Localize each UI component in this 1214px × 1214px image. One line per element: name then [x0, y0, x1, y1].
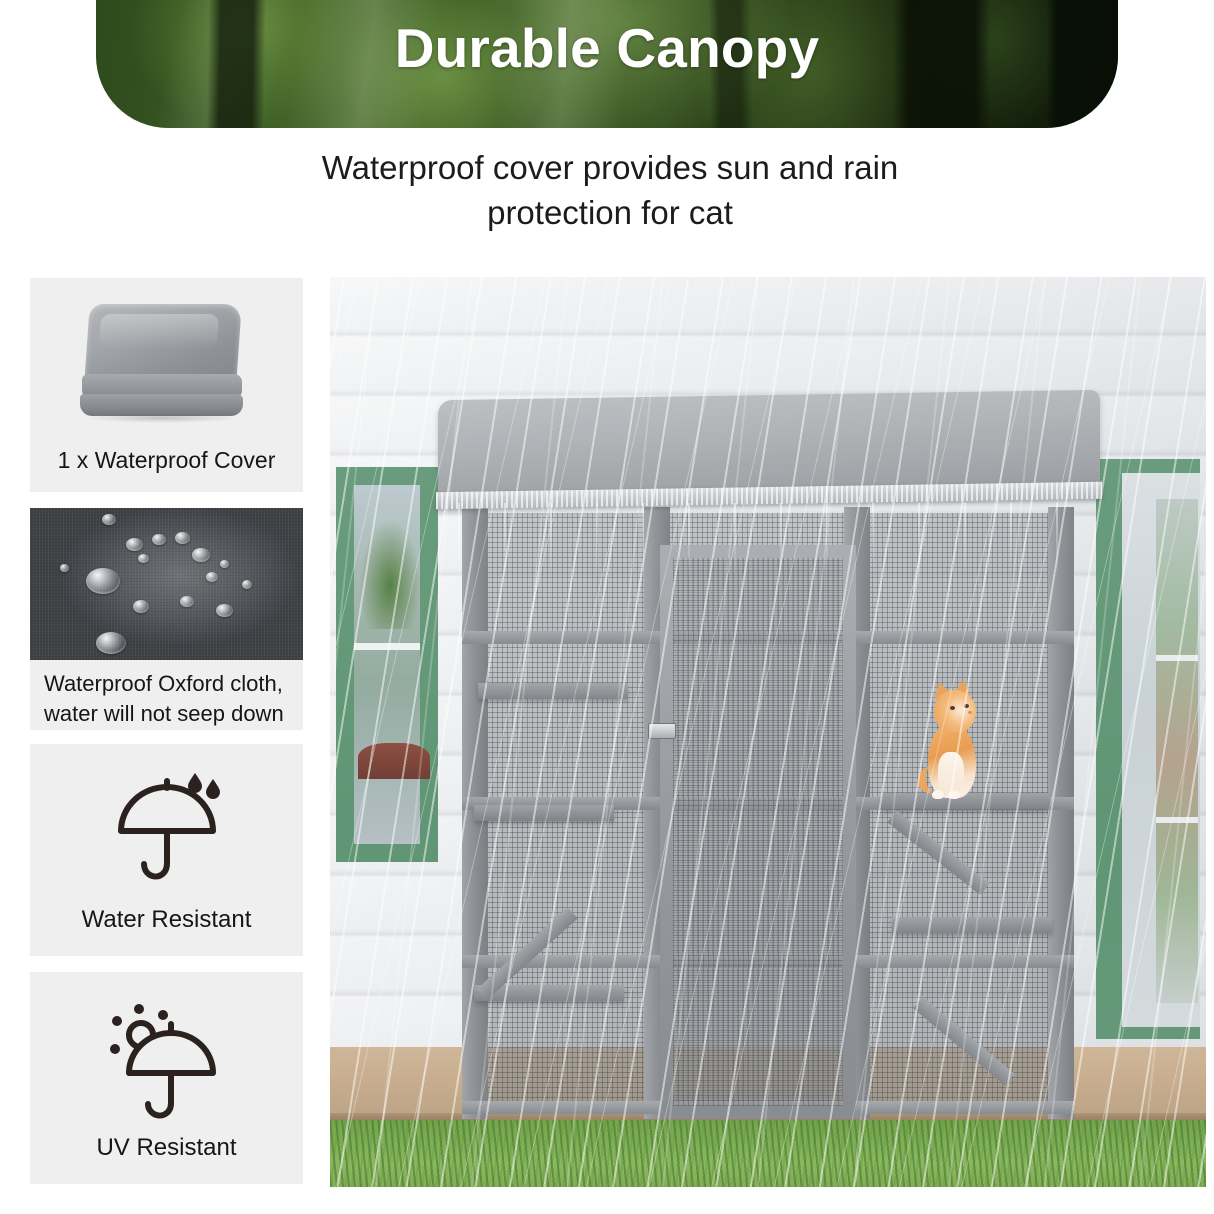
cat-platform-mid-left: [474, 805, 614, 821]
icon-container: [30, 972, 303, 1130]
raindrop: [206, 779, 220, 799]
left-green-window: [336, 467, 438, 862]
cat-paw: [948, 790, 960, 799]
umbrella-with-raindrops-icon: [107, 767, 227, 887]
water-droplet: [216, 604, 233, 617]
water-droplet: [60, 564, 69, 572]
water-droplet: [133, 600, 149, 613]
umbrella-with-sun-icon: [103, 991, 231, 1119]
cat-paw: [932, 790, 944, 799]
water-droplet: [138, 554, 149, 563]
water-droplet: [220, 560, 229, 568]
sun-ray-dot: [134, 1004, 144, 1014]
cover-folded-top: [84, 304, 242, 384]
dripping-water: [436, 503, 1102, 579]
right-green-window: [1096, 459, 1200, 1039]
feature-card-oxford-cloth: Waterproof Oxford cloth, water will not …: [30, 508, 303, 730]
subtitle: Waterproof cover provides sun and rain p…: [180, 145, 1040, 235]
header-banner: Durable Canopy: [96, 0, 1118, 128]
water-droplet: [206, 572, 218, 582]
corner-post-right: [1048, 507, 1074, 1119]
water-droplet: [192, 548, 210, 562]
cover-drop-shadow: [84, 413, 240, 423]
oxford-cloth-photo: [30, 508, 303, 660]
oxford-caption-line-1: Waterproof Oxford cloth,: [44, 669, 303, 699]
water-droplet: [242, 580, 252, 589]
feature-card-water-resistant: Water Resistant: [30, 744, 303, 956]
cat-eye: [964, 704, 969, 708]
catio-structure: [448, 395, 1088, 1118]
feature-card-waterproof-cover: 1 x Waterproof Cover: [30, 278, 303, 492]
feature-card-caption: Water Resistant: [30, 906, 303, 934]
cat: [916, 680, 988, 798]
water-droplet: [96, 632, 126, 654]
sun-ray-dot: [112, 1016, 122, 1026]
fabric-weave-texture: [30, 508, 303, 660]
waterproof-cover-photo: [30, 282, 303, 438]
cat-eye: [950, 706, 955, 710]
sun-ray-dot: [110, 1044, 120, 1054]
feature-card-caption: 1 x Waterproof Cover: [30, 446, 303, 474]
page-title: Durable Canopy: [96, 16, 1118, 80]
catio-door[interactable]: [660, 545, 856, 1119]
water-droplet: [175, 532, 190, 544]
window-frame-inner: [1122, 473, 1200, 1027]
water-droplet: [152, 534, 166, 545]
window-glass: [1156, 499, 1198, 1003]
sun-ray-dot: [158, 1010, 168, 1020]
subtitle-line-2: protection for cat: [180, 190, 1040, 235]
water-droplet: [86, 568, 120, 594]
subtitle-line-1: Waterproof cover provides sun and rain: [180, 145, 1040, 190]
cat-platform-left: [478, 683, 628, 699]
raindrop: [188, 773, 202, 793]
cat-nose: [968, 711, 972, 714]
cat-platform-lower-right: [892, 917, 1052, 933]
window-glass: [354, 485, 420, 844]
water-droplet: [126, 538, 143, 551]
oxford-caption-line-2: water will not seep down: [44, 699, 303, 729]
reflected-tree: [360, 521, 420, 629]
door-latch-icon[interactable]: [648, 723, 676, 739]
grass-lawn: [330, 1120, 1206, 1187]
main-product-photo: [330, 277, 1206, 1187]
water-droplet: [180, 596, 194, 607]
icon-container: [30, 744, 303, 902]
feature-card-uv-resistant: UV Resistant: [30, 972, 303, 1184]
water-droplet: [102, 514, 116, 525]
reflected-roof: [358, 743, 430, 779]
feature-card-caption: Waterproof Oxford cloth, water will not …: [30, 669, 303, 729]
feature-card-caption: UV Resistant: [30, 1134, 303, 1162]
